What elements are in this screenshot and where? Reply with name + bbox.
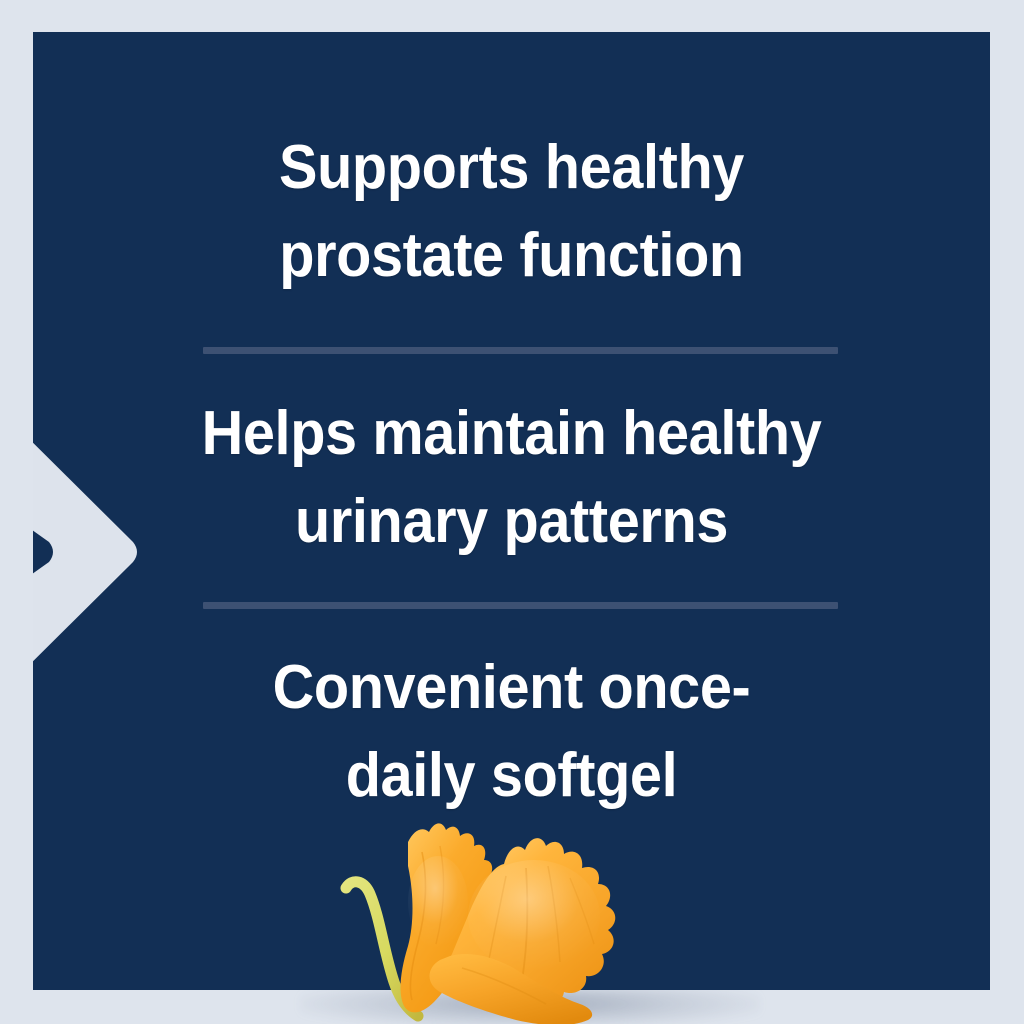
benefits-list: Supports healthy prostate function Helps… bbox=[33, 32, 990, 990]
benefits-panel: Supports healthy prostate function Helps… bbox=[33, 32, 990, 990]
benefit-item-3: Convenient once- daily softgel bbox=[66, 644, 956, 820]
benefit-item-1: Supports healthy prostate function bbox=[66, 124, 956, 300]
flower-drop-shadow bbox=[300, 988, 760, 1024]
benefit-item-2: Helps maintain healthy urinary patterns bbox=[66, 390, 956, 566]
benefit-divider-2 bbox=[203, 602, 838, 609]
benefit-divider-1 bbox=[203, 347, 838, 354]
promo-graphic: Supports healthy prostate function Helps… bbox=[0, 0, 1024, 1024]
